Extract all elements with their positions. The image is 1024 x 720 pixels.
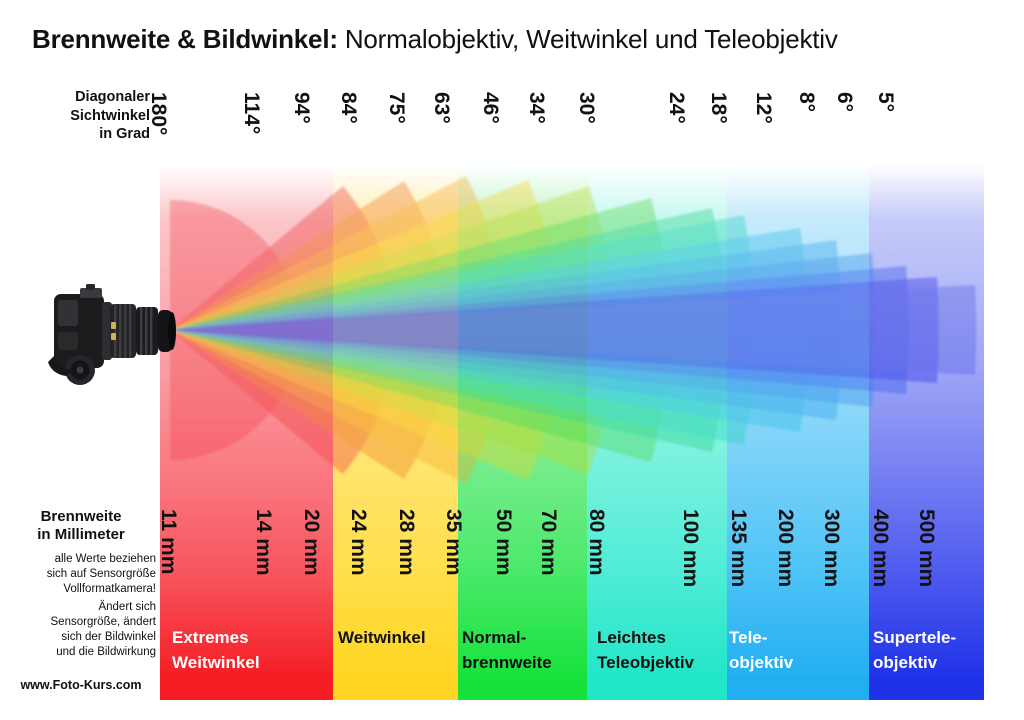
focal-tick-1: 14 mm <box>251 509 275 576</box>
focal-axis-note-sensor: alle Werte beziehen sich auf Sensorgröße… <box>6 552 156 597</box>
angle-tick-3: 84° <box>336 92 360 124</box>
angle-tick-5: 63° <box>429 92 453 124</box>
focal-tick-8: 80 mm <box>584 509 608 576</box>
angle-tick-12: 8° <box>794 92 818 112</box>
focal-tick-14: 500 mm <box>914 509 938 587</box>
category-caption-normal: Normal- brennweite <box>462 626 552 675</box>
angle-tick-9: 24° <box>664 92 688 124</box>
angle-tick-8: 30° <box>574 92 598 124</box>
focal-tick-11: 200 mm <box>773 509 797 587</box>
angle-tick-1: 114° <box>239 92 263 134</box>
category-caption-light-tele: Leichtes Teleobjektiv <box>597 626 694 675</box>
website-url[interactable]: www.Foto-Kurs.com <box>6 678 156 692</box>
category-caption-tele: Tele- objektiv <box>729 626 793 675</box>
page-title: Brennweite & Bildwinkel: Normalobjektiv,… <box>32 24 838 55</box>
title-bold: Brennweite & Bildwinkel: <box>32 24 338 54</box>
focal-tick-9: 100 mm <box>678 509 702 587</box>
focal-axis-heading: Brennweite in Millimeter <box>6 508 156 544</box>
angle-axis-heading: Diagonaler Sichtwinkel in Grad <box>18 88 150 144</box>
angle-tick-2: 94° <box>289 92 313 124</box>
focal-tick-13: 400 mm <box>868 509 892 587</box>
angle-tick-10: 18° <box>706 92 730 124</box>
title-rest: Normalobjektiv, Weitwinkel und Teleobjek… <box>338 24 838 54</box>
infographic-canvas: Brennweite & Bildwinkel: Normalobjektiv,… <box>0 0 1024 720</box>
focal-tick-4: 28 mm <box>394 509 418 576</box>
category-caption-super-tele: Supertele- objektiv <box>873 626 956 675</box>
focal-tick-10: 135 mm <box>726 509 750 587</box>
focal-tick-0: 11 mm <box>156 509 180 574</box>
angle-tick-4: 75° <box>384 92 408 124</box>
angle-tick-7: 34° <box>524 92 548 124</box>
focal-tick-2: 20 mm <box>299 509 323 576</box>
category-caption-wide: Weitwinkel <box>338 626 426 651</box>
angle-tick-0: 180° <box>146 92 170 135</box>
focal-tick-12: 300 mm <box>819 509 843 587</box>
angle-tick-6: 46° <box>478 92 502 124</box>
focal-axis-note-change: Ändert sich Sensorgröße, ändert sich der… <box>6 600 156 660</box>
focal-tick-6: 50 mm <box>491 509 515 576</box>
angle-tick-13: 6° <box>832 92 856 112</box>
focal-tick-3: 24 mm <box>346 509 370 576</box>
focal-tick-5: 35 mm <box>441 509 465 576</box>
angle-tick-11: 12° <box>751 92 775 124</box>
angle-tick-14: 5° <box>873 92 897 112</box>
category-caption-extreme-wide: Extremes Weitwinkel <box>172 626 260 675</box>
focal-tick-7: 70 mm <box>536 509 560 576</box>
camera-icon <box>40 278 180 388</box>
